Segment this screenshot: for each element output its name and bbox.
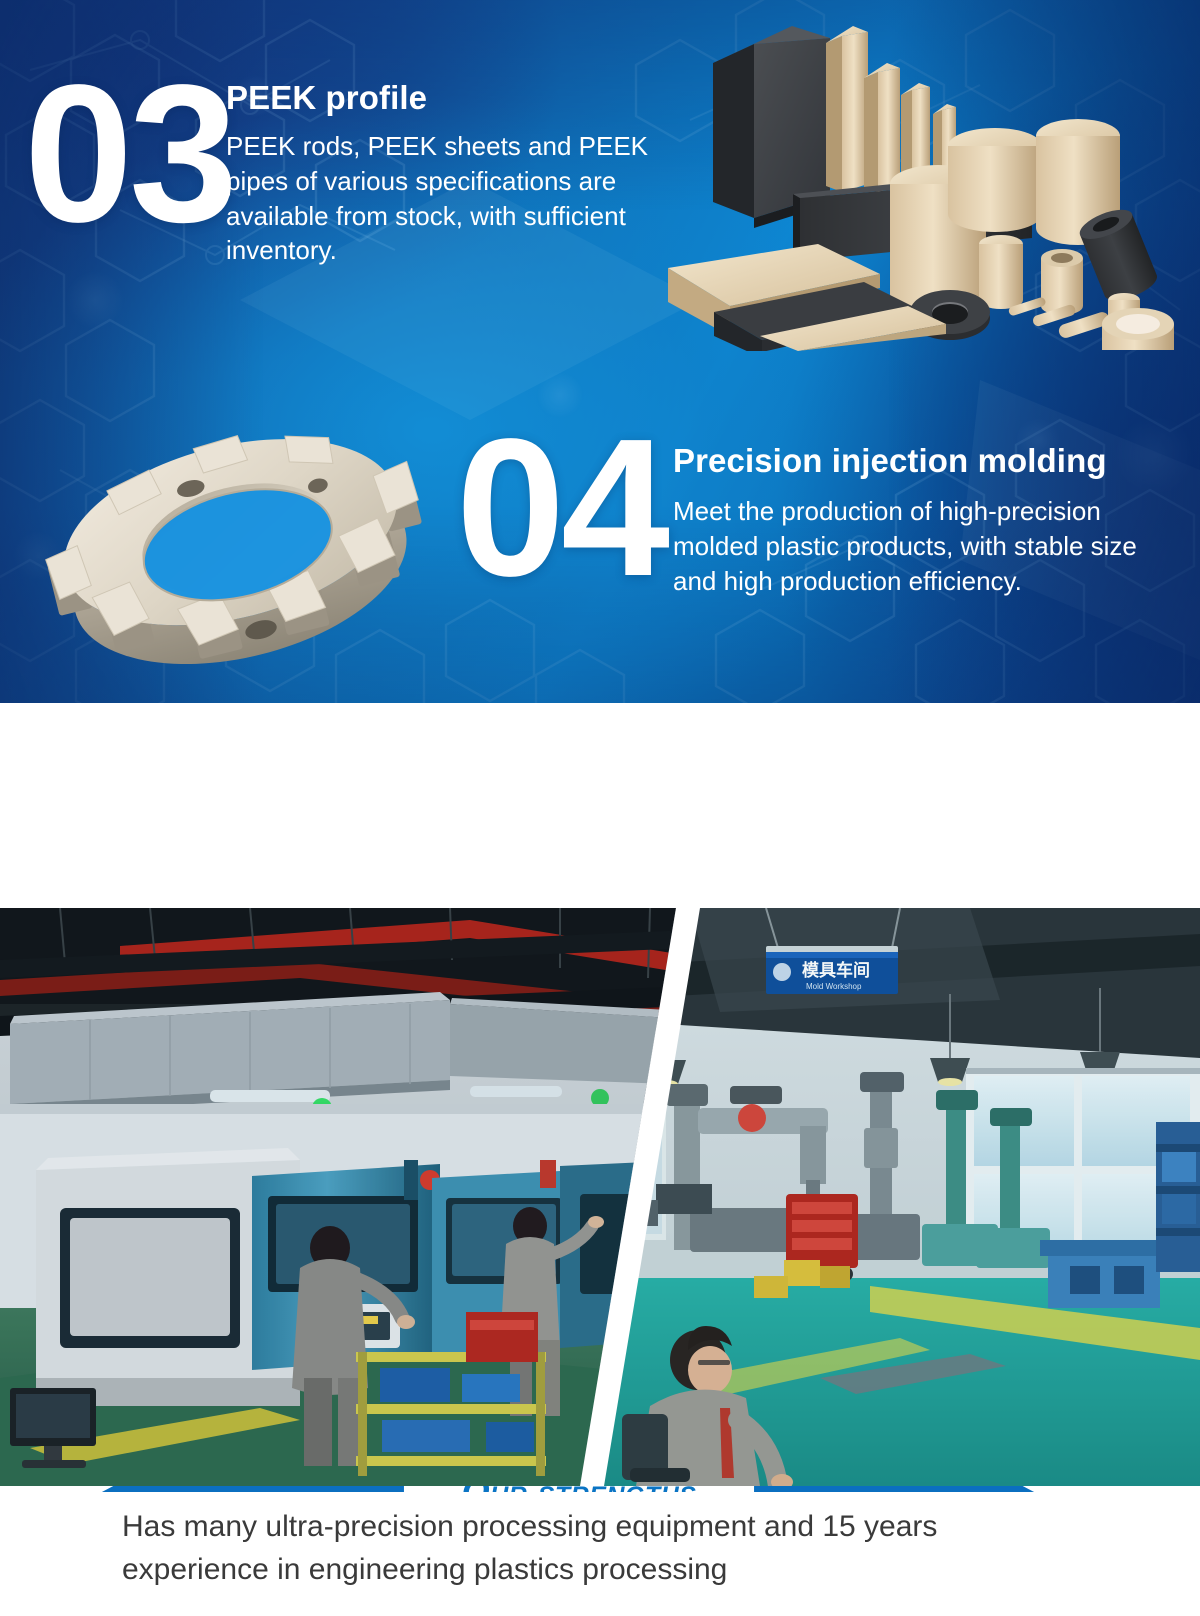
hero-item-03: PEEK profile PEEK rods, PEEK sheets and … [226, 80, 656, 268]
hero-panel: 03 PEEK profile PEEK rods, PEEK sheets a… [0, 0, 1200, 703]
mold-workshop-photo: 模具车间 Mold Workshop [570, 908, 1200, 1486]
hero-item-04: Precision injection molding Meet the pro… [673, 443, 1153, 598]
item-number-04: 04 [456, 432, 666, 585]
item-body-03: PEEK rods, PEEK sheets and PEEK pipes of… [226, 129, 656, 268]
gallery-caption: Has many ultra-precision processing equi… [0, 1492, 1200, 1616]
item-body-04: Meet the production of high-precision mo… [673, 494, 1153, 598]
peek-profile-products-photo [650, 6, 1195, 351]
section-divider-banner: Our strengths [0, 703, 1200, 868]
item-number-03: 03 [24, 78, 234, 231]
workshop-photo-gallery: 模具车间 Mold Workshop [0, 908, 1200, 1486]
item-title-04: Precision injection molding [673, 443, 1153, 480]
peek-gear-ring-photo [22, 398, 442, 690]
item-title-03: PEEK profile [226, 80, 656, 117]
caption-text: Has many ultra-precision processing equi… [122, 1506, 1080, 1591]
cnc-workshop-photo [0, 908, 690, 1486]
